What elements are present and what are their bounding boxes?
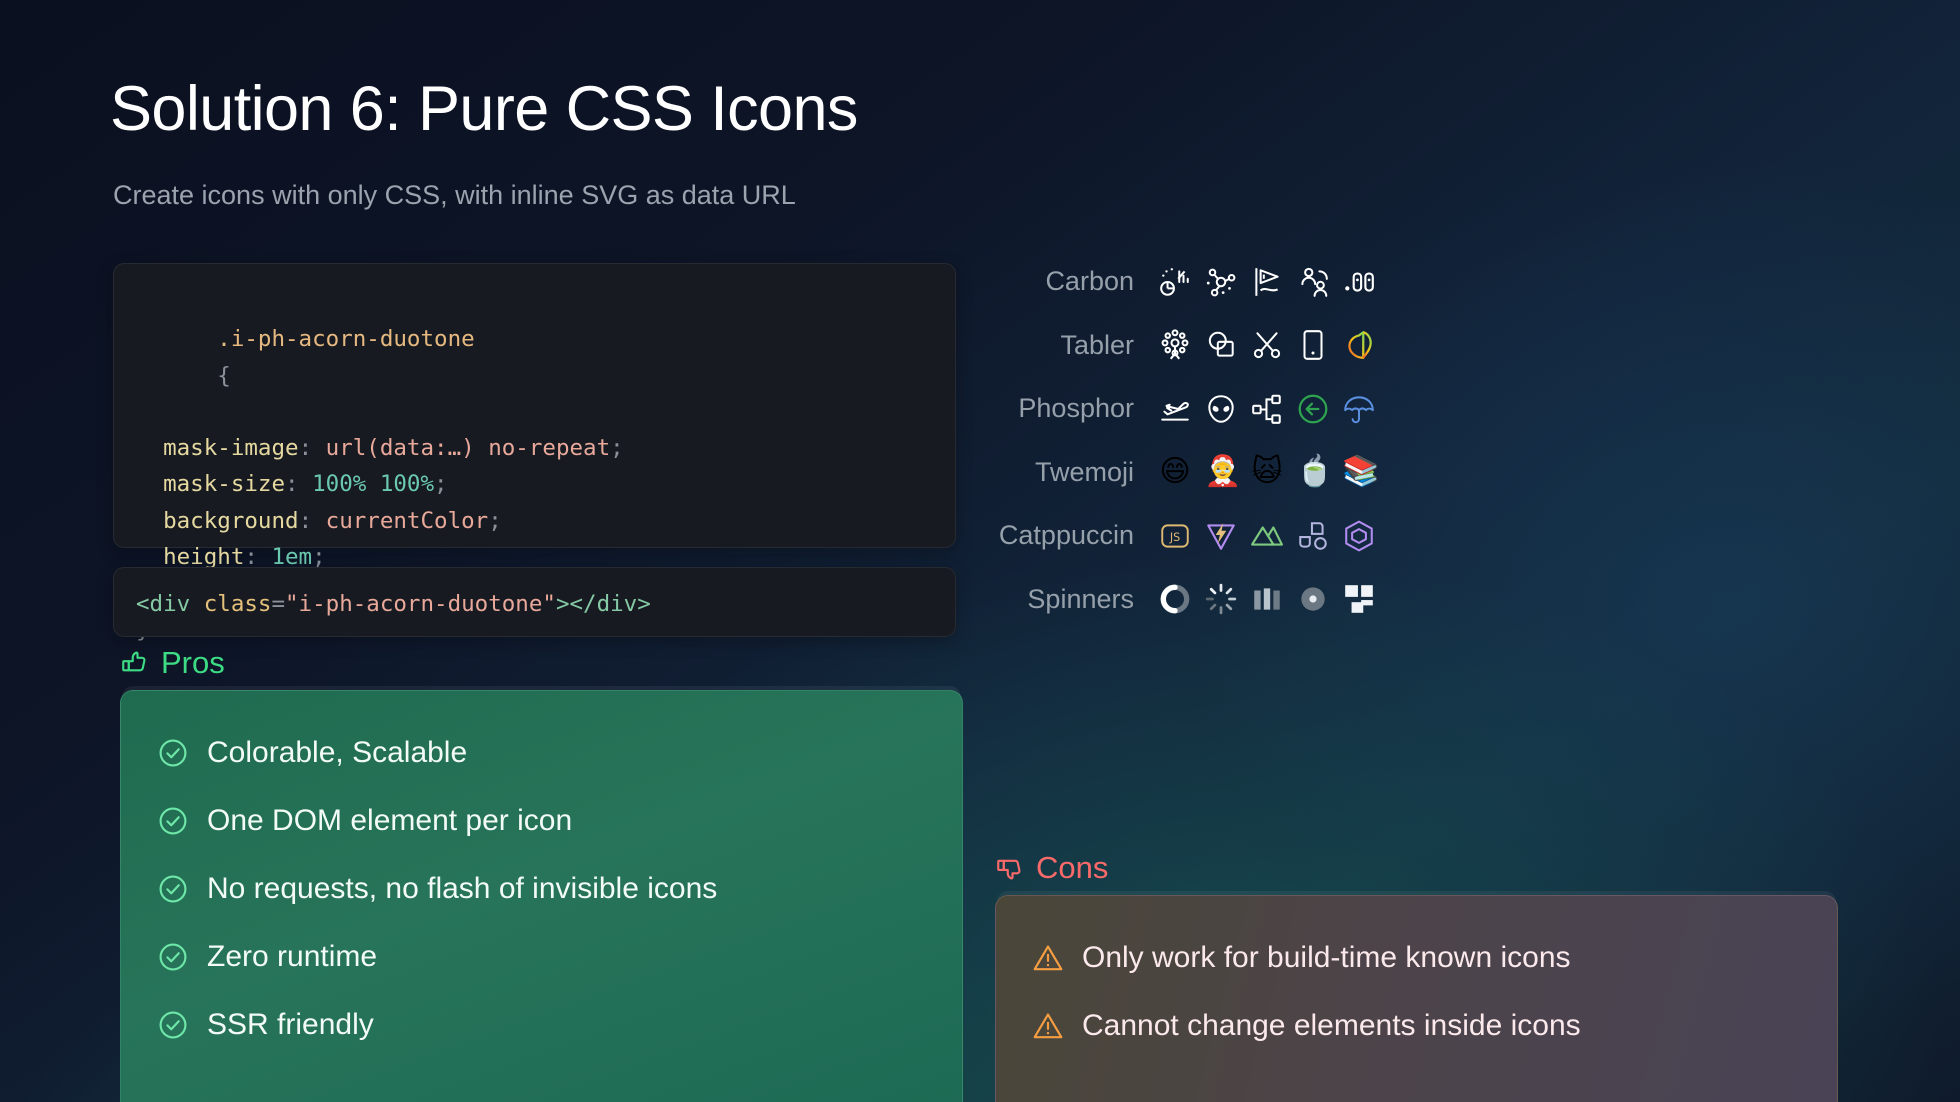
pros-heading: Pros xyxy=(120,645,225,681)
page-title: Solution 6: Pure CSS Icons xyxy=(110,78,858,141)
device-tablet-icon xyxy=(1296,328,1330,362)
umbrella-icon xyxy=(1342,392,1376,426)
code-line: background: currentColor; xyxy=(114,503,955,539)
mountains-icon xyxy=(1250,519,1284,553)
vite-lightning-icon xyxy=(1204,519,1238,553)
css-prop: mask-image xyxy=(163,435,298,461)
open-brace: { xyxy=(217,363,231,389)
brand-gradient-icon xyxy=(1342,328,1376,362)
iconset-row-tabler: Tabler xyxy=(980,314,1410,378)
scissors-icon xyxy=(1250,328,1284,362)
list-item-label: Cannot change elements inside icons xyxy=(1082,1009,1581,1043)
svg-text:JS: JS xyxy=(1169,531,1180,544)
list-item-label: Colorable, Scalable xyxy=(207,736,467,770)
pros-heading-label: Pros xyxy=(161,645,225,681)
list-item-label: SSR friendly xyxy=(207,1008,374,1042)
list-item: Zero runtime xyxy=(121,923,962,991)
code-line: <div class="i-ph-acorn-duotone"></div> xyxy=(114,586,955,622)
css-selector: .i-ph-acorn-duotone xyxy=(217,326,474,352)
code-line: mask-size: 100% 100%; xyxy=(114,466,955,502)
css-code-block: .i-ph-acorn-duotone { mask-image: url(da… xyxy=(113,263,956,548)
html-code-block: <div class="i-ph-acorn-duotone"></div> xyxy=(113,567,956,637)
iconset-label: Tabler xyxy=(980,330,1158,361)
css-value: 100% 100% xyxy=(312,471,434,497)
list-item-label: No requests, no flash of invisible icons xyxy=(207,872,717,906)
list-item: Colorable, Scalable xyxy=(121,719,962,787)
iconset-row-catppuccin: Catppuccin JS xyxy=(980,504,1410,568)
books-icon: 📚 xyxy=(1342,455,1376,489)
iconset-label: Carbon xyxy=(980,266,1158,297)
check-circle-icon xyxy=(157,805,189,837)
thumbs-down-icon xyxy=(995,853,1025,883)
spinner-sunburst-icon xyxy=(1204,582,1238,616)
shapes-icon xyxy=(1296,519,1330,553)
network-nodes-icon xyxy=(1204,265,1238,299)
css-prop: mask-size xyxy=(163,471,285,497)
css-value: currentColor xyxy=(326,508,489,534)
list-item-label: Only work for build-time known icons xyxy=(1082,941,1571,975)
spinner-blocks-icon xyxy=(1342,582,1376,616)
shapes-overlap-icon xyxy=(1204,328,1238,362)
cons-heading-label: Cons xyxy=(1036,850,1108,886)
html-eq: = xyxy=(271,591,285,617)
check-circle-icon xyxy=(157,737,189,769)
pros-list: Colorable, Scalable One DOM element per … xyxy=(121,691,962,1059)
check-circle-icon xyxy=(157,941,189,973)
warning-triangle-icon xyxy=(1032,1010,1064,1042)
teacup-without-handle-icon: 🍵 xyxy=(1296,455,1330,489)
iconset-label: Catppuccin xyxy=(980,520,1158,551)
iconset-row-carbon: Carbon xyxy=(980,250,1410,314)
javascript-icon: JS xyxy=(1158,519,1192,553)
check-circle-icon xyxy=(157,873,189,905)
grinning-squinting-face-icon: 😄 xyxy=(1158,455,1192,489)
chart-analysis-icon xyxy=(1158,265,1192,299)
arrow-circle-left-icon xyxy=(1296,392,1330,426)
spinner-bars-icon xyxy=(1250,582,1284,616)
warning-triangle-icon xyxy=(1032,942,1064,974)
list-item: Cannot change elements inside icons xyxy=(996,992,1837,1060)
html-tag-close: </div> xyxy=(570,591,651,617)
iconset-row-phosphor: Phosphor xyxy=(980,377,1410,441)
css-prop: background xyxy=(163,508,298,534)
html-gt: > xyxy=(556,591,570,617)
iconset-label: Phosphor xyxy=(980,393,1158,424)
pros-card: Colorable, Scalable One DOM element per … xyxy=(120,690,963,1102)
list-item-label: Zero runtime xyxy=(207,940,377,974)
list-item-label: One DOM element per icon xyxy=(207,804,572,838)
hexagon-icon xyxy=(1342,519,1376,553)
spinner-ring-icon xyxy=(1158,582,1192,616)
cons-card: Only work for build-time known icons Can… xyxy=(995,895,1838,1102)
list-item: Only work for build-time known icons xyxy=(996,924,1837,992)
check-circle-icon xyxy=(157,1009,189,1041)
weary-cat-icon: 🙀 xyxy=(1250,455,1284,489)
user-group-icon xyxy=(1296,265,1330,299)
iconset-row-spinners: Spinners xyxy=(980,568,1410,632)
iconset-label: Spinners xyxy=(980,584,1158,615)
thumbs-up-icon xyxy=(120,648,150,678)
cons-heading: Cons xyxy=(995,850,1108,886)
tree-structure-icon xyxy=(1250,392,1284,426)
code-line: .i-ph-acorn-duotone { xyxy=(114,285,955,430)
iconset-showcase: Carbon xyxy=(980,250,1410,631)
code-line: mask-image: url(data:…) no-repeat; xyxy=(114,430,955,466)
flag-banner-icon xyxy=(1250,265,1284,299)
list-item: SSR friendly xyxy=(121,991,962,1059)
cons-list: Only work for build-time known icons Can… xyxy=(996,896,1837,1060)
html-attr: class xyxy=(204,591,272,617)
html-attr-value: "i-ph-acorn-duotone" xyxy=(285,591,556,617)
iconset-row-twemoji: Twemoji 😄 🤶 🙀 🍵 📚 xyxy=(980,441,1410,505)
list-item: One DOM element per icon xyxy=(121,787,962,855)
mrs-claus-icon: 🤶 xyxy=(1204,455,1238,489)
decimal-places-icon xyxy=(1342,265,1376,299)
html-tag-open: <div xyxy=(136,591,190,617)
list-item: No requests, no flash of invisible icons xyxy=(121,855,962,923)
spinner-dot-circle-icon xyxy=(1296,582,1330,616)
page-subtitle: Create icons with only CSS, with inline … xyxy=(113,180,796,211)
airplane-takeoff-icon xyxy=(1158,392,1192,426)
alien-icon xyxy=(1204,392,1238,426)
iconset-label: Twemoji xyxy=(980,457,1158,488)
ferris-wheel-icon xyxy=(1158,328,1192,362)
css-value: url(data:…) no-repeat xyxy=(326,435,610,461)
